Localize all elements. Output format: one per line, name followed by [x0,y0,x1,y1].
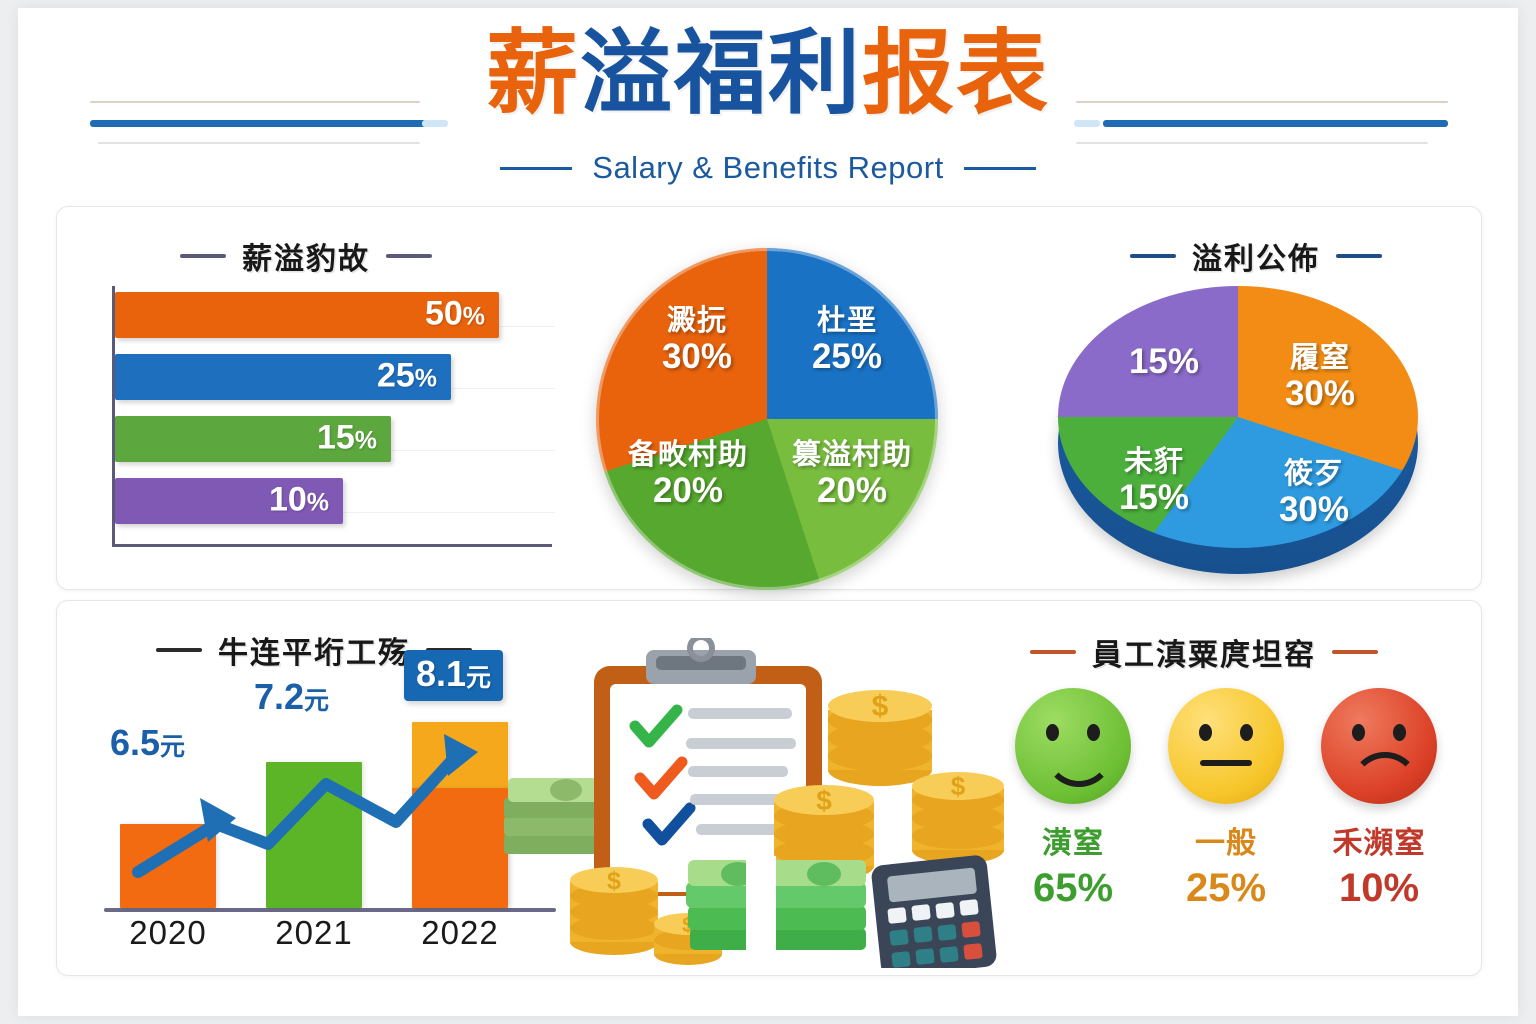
eye-right [1087,724,1100,741]
title-char-6: 表 [956,26,1050,123]
finance-illustration-svg: $ $ $ [498,638,1008,968]
neutral-face-icon [1168,688,1284,804]
satisfaction-label: 潢窒 [998,818,1148,862]
eye-left [1199,724,1212,741]
title-char-4: 利 [768,26,862,123]
pie-chart-right: 履窒 30% 筱歹 30% 未豻 15% 15% [1058,286,1418,586]
column-year-2020: 2020 [108,914,228,952]
finance-illustration: $ $ $ [498,638,1008,968]
satisfaction-value: 25% [1151,866,1301,911]
pie-label-2: 篡溢村助 20% [768,440,936,510]
page-subtitle: Salary & Benefits Report [592,150,943,186]
calculator-icon [870,854,997,968]
column-year-2021: 2021 [254,914,374,952]
section-dash-left [180,254,226,258]
pie-chart-center: 杜垩 25% 篡溢村助 20% 备畋村助 20% 澱抏 30% [596,248,938,590]
pie-label-3: 备畋村助 20% [604,440,772,510]
section-dash-right [386,254,432,258]
table-row[interactable]: 10% [115,478,343,524]
column-value-2022-badge: 8.1元 [404,650,503,701]
satisfaction-item-dissatisfied[interactable]: 禾瀕窒 10% [1304,688,1454,911]
section-dash-right [1332,650,1378,654]
eye-right [1393,724,1406,741]
bar-segment-3[interactable]: 15% [115,416,391,462]
pie-label-3: 未豻 15% [1088,446,1220,518]
section-title-text: 牛连平垳工殇 [218,628,410,672]
bar-segment-2[interactable]: 25% [115,354,451,400]
title-char-1: 薪 [486,26,580,123]
table-row[interactable]: 15% [115,416,391,462]
header-deco-line-gray-right [1076,142,1428,144]
svg-text:$: $ [872,690,889,723]
section-title-text: 員工滇粟庹坦窑 [1092,630,1316,674]
frown-face-icon [1321,688,1437,804]
header-deco-line-gray-left [98,142,420,144]
bar-value-label-4: 10% [269,481,329,520]
svg-text:$: $ [816,785,832,816]
page-title: 薪溢福利报表 [18,26,1518,123]
header: 薪溢福利报表 Salary & Benefits Report [18,8,1518,198]
section-title-satisfaction: 員工滇粟庹坦窑 [1030,630,1378,674]
table-row[interactable]: 50% [115,292,499,338]
mouth-flat [1200,760,1252,766]
pie-label-4: 15% [1098,342,1230,381]
subtitle-dash-left [500,167,572,170]
subtitle-dash-right [964,167,1036,170]
satisfaction-item-neutral[interactable]: 一般 25% [1151,688,1301,911]
section-dash-left [1030,650,1076,654]
satisfaction-label: 禾瀕窒 [1304,818,1454,862]
column-value-2022: 8.1元 [416,653,491,695]
satisfaction-value: 65% [998,866,1148,911]
section-dash-left [1130,254,1176,258]
section-dash-right [1336,254,1382,258]
smile-face-icon [1015,688,1131,804]
bar-segment-1[interactable]: 50% [115,292,499,338]
eye-left [1046,724,1059,741]
pie-label-4: 澱抏 30% [632,306,762,376]
satisfaction-item-satisfied[interactable]: 潢窒 65% [998,688,1148,911]
infographic-page: 薪溢福利报表 Salary & Benefits Report 薪溢豹故 50% [18,8,1518,1016]
subtitle-row: Salary & Benefits Report [18,150,1518,186]
bar-segment-4[interactable]: 10% [115,478,343,524]
mouth-frown [1350,752,1420,796]
bar-value-label-3: 15% [317,419,377,458]
satisfaction-chart: 潢窒 65% 一般 25% 禾瀕窒 10% [998,688,1458,958]
satisfaction-value: 10% [1304,866,1454,911]
svg-text:$: $ [607,867,621,895]
bar-value-label-1: 50% [425,295,485,334]
pie-label-2: 筱歹 30% [1248,458,1380,530]
mouth-smile [1044,743,1114,787]
pie-label-1: 杜垩 25% [782,306,912,376]
trend-arrow-icon [96,676,566,926]
column-value-2020: 6.5元 [110,722,185,764]
svg-text:$: $ [951,771,966,801]
pie-label-1: 履窒 30% [1254,342,1386,414]
title-char-3: 福 [674,26,768,123]
section-title-salary-structure: 薪溢豹故 [180,234,432,278]
bar-value-label-2: 25% [377,357,437,396]
eye-right [1240,724,1253,741]
pie-body[interactable] [596,248,938,590]
column-chart: 6.5元 7.2元 8.1元 2020 2021 2022 [96,676,566,954]
bar-chart: 50% 25% 15% 10% [80,278,560,568]
title-char-2: 溢 [580,26,674,123]
section-dash-left [156,648,202,652]
bar-axis-horizontal [112,544,552,547]
section-title-text: 薪溢豹故 [242,234,370,278]
section-title-text: 溢利公佈 [1192,234,1320,278]
cash-bundle-icon [686,856,866,954]
column-value-2021: 7.2元 [254,676,329,718]
eye-left [1352,724,1365,741]
satisfaction-label: 一般 [1151,818,1301,862]
table-row[interactable]: 25% [115,354,451,400]
section-title-benefits: 溢利公佈 [1130,234,1382,278]
title-char-5: 报 [862,26,956,123]
